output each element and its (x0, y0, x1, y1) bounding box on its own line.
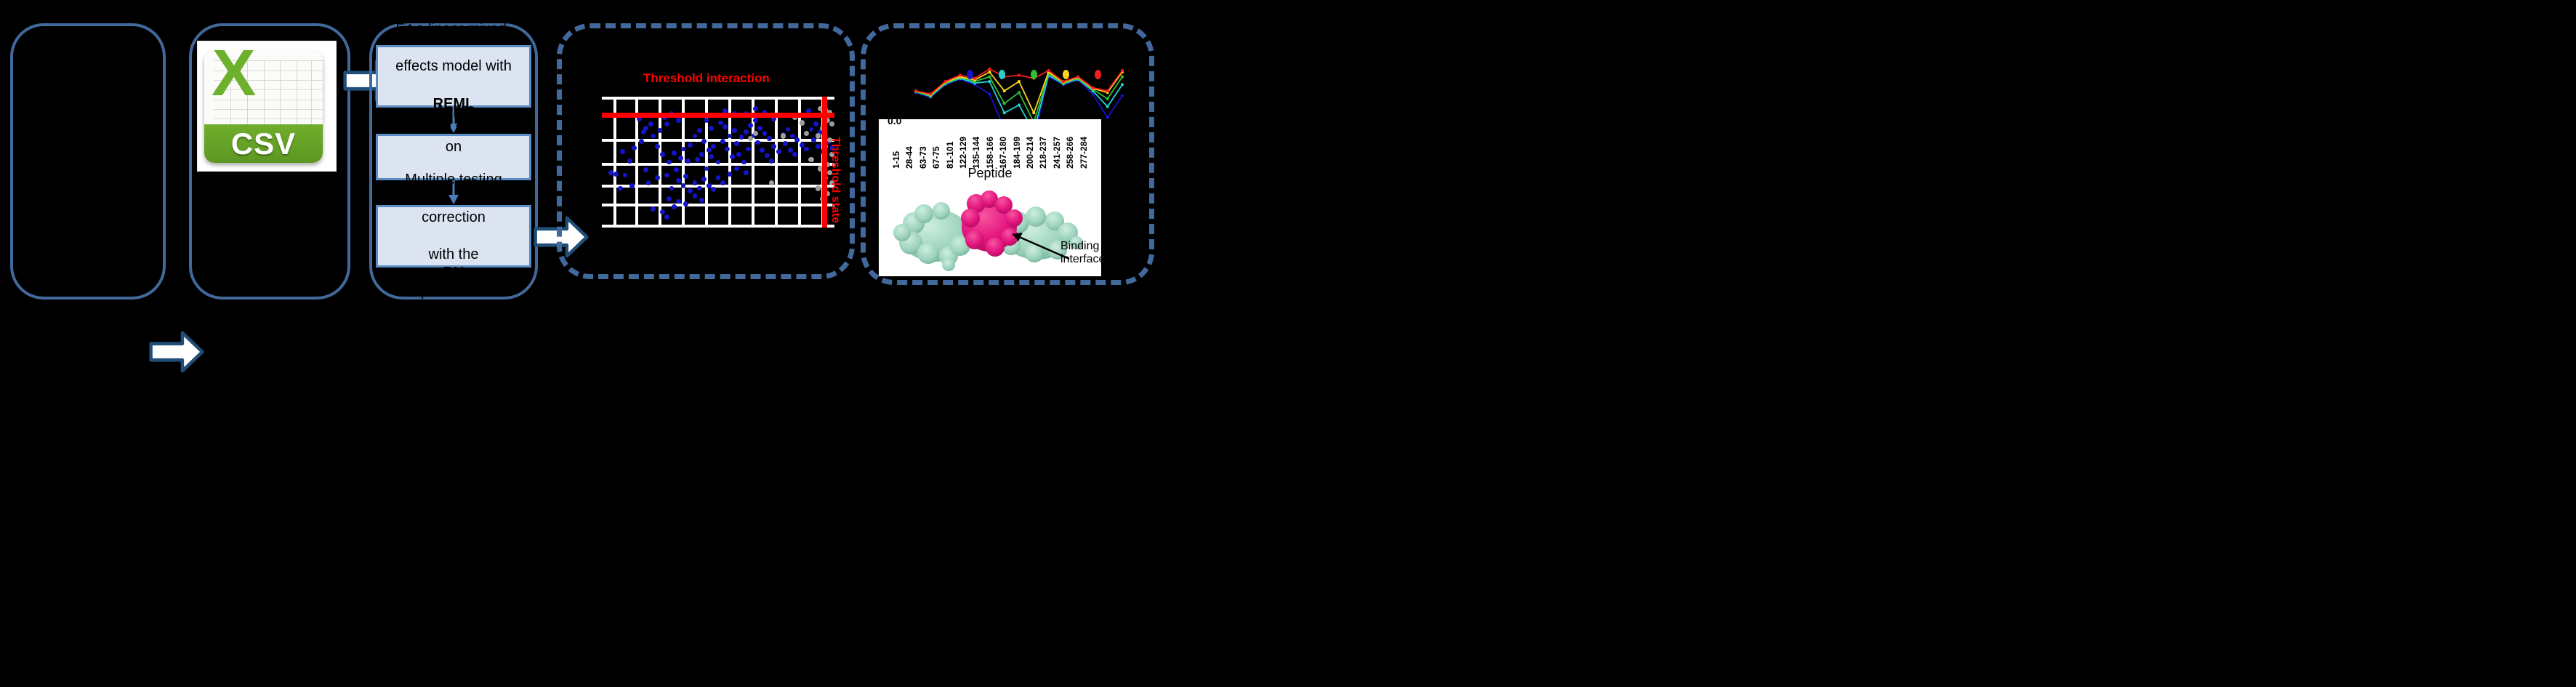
volcano-point (723, 124, 728, 129)
volcano-point (769, 158, 774, 164)
volcano-point (655, 144, 660, 149)
hdx-x-tick: 122-129 (958, 137, 968, 169)
hdx-x-tick: 241-257 (1052, 137, 1062, 169)
hdx-series-point (1106, 89, 1109, 92)
hdx-series-point (914, 89, 917, 92)
volcano-point (783, 141, 788, 146)
volcano-point (683, 174, 688, 179)
volcano-point (816, 144, 821, 149)
volcano-point (623, 173, 628, 178)
volcano-point (786, 127, 791, 132)
hdx-series-point (1106, 97, 1109, 100)
volcano-point (701, 177, 707, 182)
hdx-series-point (929, 92, 932, 95)
hdx-x-tick-labels: 1-1528-4463-7367-7581-101122-129135-1441… (894, 125, 1098, 169)
volcano-point (651, 134, 656, 139)
volcano-point (688, 188, 693, 193)
volcano-point (699, 198, 704, 203)
volcano-point (794, 137, 800, 142)
volcano-point (664, 214, 669, 220)
volcano-point (651, 206, 656, 212)
volcano-point (620, 149, 625, 154)
volcano-point (716, 175, 721, 180)
volcano-point (760, 148, 765, 153)
hdx-series-point (1106, 116, 1109, 119)
hdx-x-axis-title: Peptide (879, 166, 1101, 181)
volcano-point (704, 166, 709, 172)
volcano-point (660, 209, 665, 214)
volcano-point (811, 137, 816, 142)
threshold-state-line (822, 97, 827, 228)
panel-input (10, 23, 166, 300)
hdx-series-point (1003, 102, 1006, 105)
volcano-point (753, 106, 758, 111)
hdx-series-point (1106, 105, 1109, 108)
volcano-point (711, 144, 716, 149)
volcano-point (720, 139, 725, 144)
volcano-point (667, 196, 672, 201)
volcano-point (804, 131, 809, 136)
hdx-x-tick: 135-144 (971, 137, 981, 169)
hdx-series-point (1003, 111, 1006, 114)
volcano-point (816, 185, 821, 190)
volcano-point (674, 167, 679, 172)
step-fit-model: Fit a linear mixed-effects model with RE… (376, 45, 531, 108)
volcano-point (765, 153, 770, 158)
volcano-point (816, 133, 821, 138)
hdx-x-tick: 184-199 (1012, 137, 1022, 169)
volcano-point (693, 134, 698, 139)
volcano-point (744, 129, 749, 134)
volcano-point (792, 152, 797, 157)
volcano-point (629, 183, 635, 188)
hdx-x-tick: 158-166 (985, 137, 995, 169)
volcano-point (701, 139, 707, 144)
excel-x-letter: X (206, 52, 261, 93)
csv-spreadsheet-grid: X (204, 50, 323, 124)
volcano-point (762, 131, 768, 136)
hdx-legend-dot (1031, 70, 1037, 79)
hdx-x-tick: 200-214 (1025, 137, 1035, 169)
volcano-point (681, 183, 686, 188)
volcano-plot (602, 97, 834, 228)
volcano-point (660, 152, 665, 157)
volcano-point (728, 172, 733, 177)
hdx-x-tick: 258-266 (1065, 137, 1075, 169)
volcano-point (741, 160, 746, 165)
volcano-point (829, 121, 834, 126)
hdx-series-point (1003, 89, 1006, 92)
volcano-point (734, 166, 739, 172)
volcano-point (613, 172, 619, 177)
volcano-point (664, 121, 669, 126)
volcano-point (746, 147, 751, 152)
hdx-series-point (1018, 91, 1021, 94)
binding-interface-line1: Binding (1060, 240, 1105, 253)
hdx-x-tick: 218-237 (1038, 137, 1048, 169)
hdx-legend-dot (967, 70, 973, 79)
volcano-point (808, 157, 813, 162)
volcano-point (809, 127, 814, 132)
volcano-point (709, 154, 714, 159)
volcano-point (693, 193, 698, 198)
volcano-point (639, 139, 644, 144)
volcano-point (753, 118, 758, 123)
volcano-point (813, 121, 818, 126)
hdx-x-tick: 167-180 (998, 137, 1008, 169)
volcano-point (669, 186, 675, 191)
volcano-point (683, 201, 688, 206)
volcano-point (781, 133, 786, 138)
volcano-point (744, 170, 749, 175)
volcano-point (728, 134, 733, 139)
hdx-series-point (1018, 103, 1021, 106)
binding-interface-label: Binding interface (1060, 240, 1105, 266)
volcano-point (734, 141, 739, 146)
volcano-point (618, 186, 623, 191)
volcano-point (695, 157, 700, 162)
volcano-point (676, 178, 681, 183)
volcano-point (771, 144, 776, 149)
hdx-series-point (1121, 83, 1124, 86)
hdx-legend-dot (999, 70, 1005, 79)
arrow-input-to-csv (149, 331, 204, 373)
step-multiple-testing-text: Multiple testingcorrectionwith the BH pr… (405, 171, 502, 301)
volcano-point (788, 148, 793, 153)
csv-file-icon: X CSV (204, 50, 323, 163)
volcano-point (767, 136, 772, 141)
csv-label-band: CSV (204, 124, 323, 163)
volcano-point (664, 173, 669, 178)
volcano-point (676, 118, 681, 123)
volcano-point (699, 152, 704, 157)
threshold-interaction-label: Threshold interaction (643, 71, 770, 86)
volcano-point (804, 147, 809, 152)
volcano-point (685, 158, 691, 164)
threshold-interaction-line (602, 113, 834, 118)
volcano-point (658, 128, 663, 133)
volcano-point (800, 142, 805, 148)
hdx-series-point (988, 92, 991, 95)
volcano-point (711, 187, 716, 192)
volcano-point (697, 186, 702, 191)
volcano-point (755, 140, 760, 145)
step-multiple-testing: Multiple testingcorrectionwith the BH pr… (376, 205, 531, 268)
hdx-legend-dot (1095, 70, 1101, 79)
volcano-point (800, 120, 805, 125)
volcano-point (709, 126, 714, 131)
volcano-point (688, 142, 693, 148)
volcano-point (632, 145, 637, 150)
volcano-point (757, 126, 762, 131)
hdx-legend (888, 70, 1128, 81)
volcano-point (707, 148, 712, 153)
hdx-series-point (1032, 111, 1035, 114)
hdx-x-tick: 81-101 (945, 142, 955, 169)
volcano-point (718, 121, 723, 126)
volcano-point (643, 167, 648, 172)
csv-icon-canvas: X CSV (198, 41, 336, 171)
volcano-point (776, 149, 781, 154)
volcano-point (697, 128, 702, 133)
csv-label-text: CSV (231, 126, 296, 161)
volcano-point (730, 154, 735, 159)
volcano-point (608, 170, 613, 175)
volcano-point (720, 180, 725, 185)
volcano-point (736, 152, 741, 157)
hdx-series-point (1091, 87, 1094, 89)
volcano-point (648, 121, 653, 126)
volcano-point (681, 147, 686, 152)
volcano-point (672, 150, 677, 156)
volcano-point (641, 129, 646, 134)
protein-left-lobe (893, 202, 970, 271)
volcano-point (627, 158, 632, 164)
volcano-point (753, 131, 758, 136)
hdx-x-tick: 277-284 (1079, 137, 1089, 169)
volcano-point (732, 128, 737, 133)
volcano-point (704, 118, 709, 123)
threshold-state-label: Threshold state (829, 137, 842, 223)
hdx-legend-dot (1063, 70, 1069, 79)
binding-interface-line2: interface (1060, 253, 1105, 266)
volcano-point (672, 204, 677, 209)
hdx-series-point (1121, 94, 1124, 97)
